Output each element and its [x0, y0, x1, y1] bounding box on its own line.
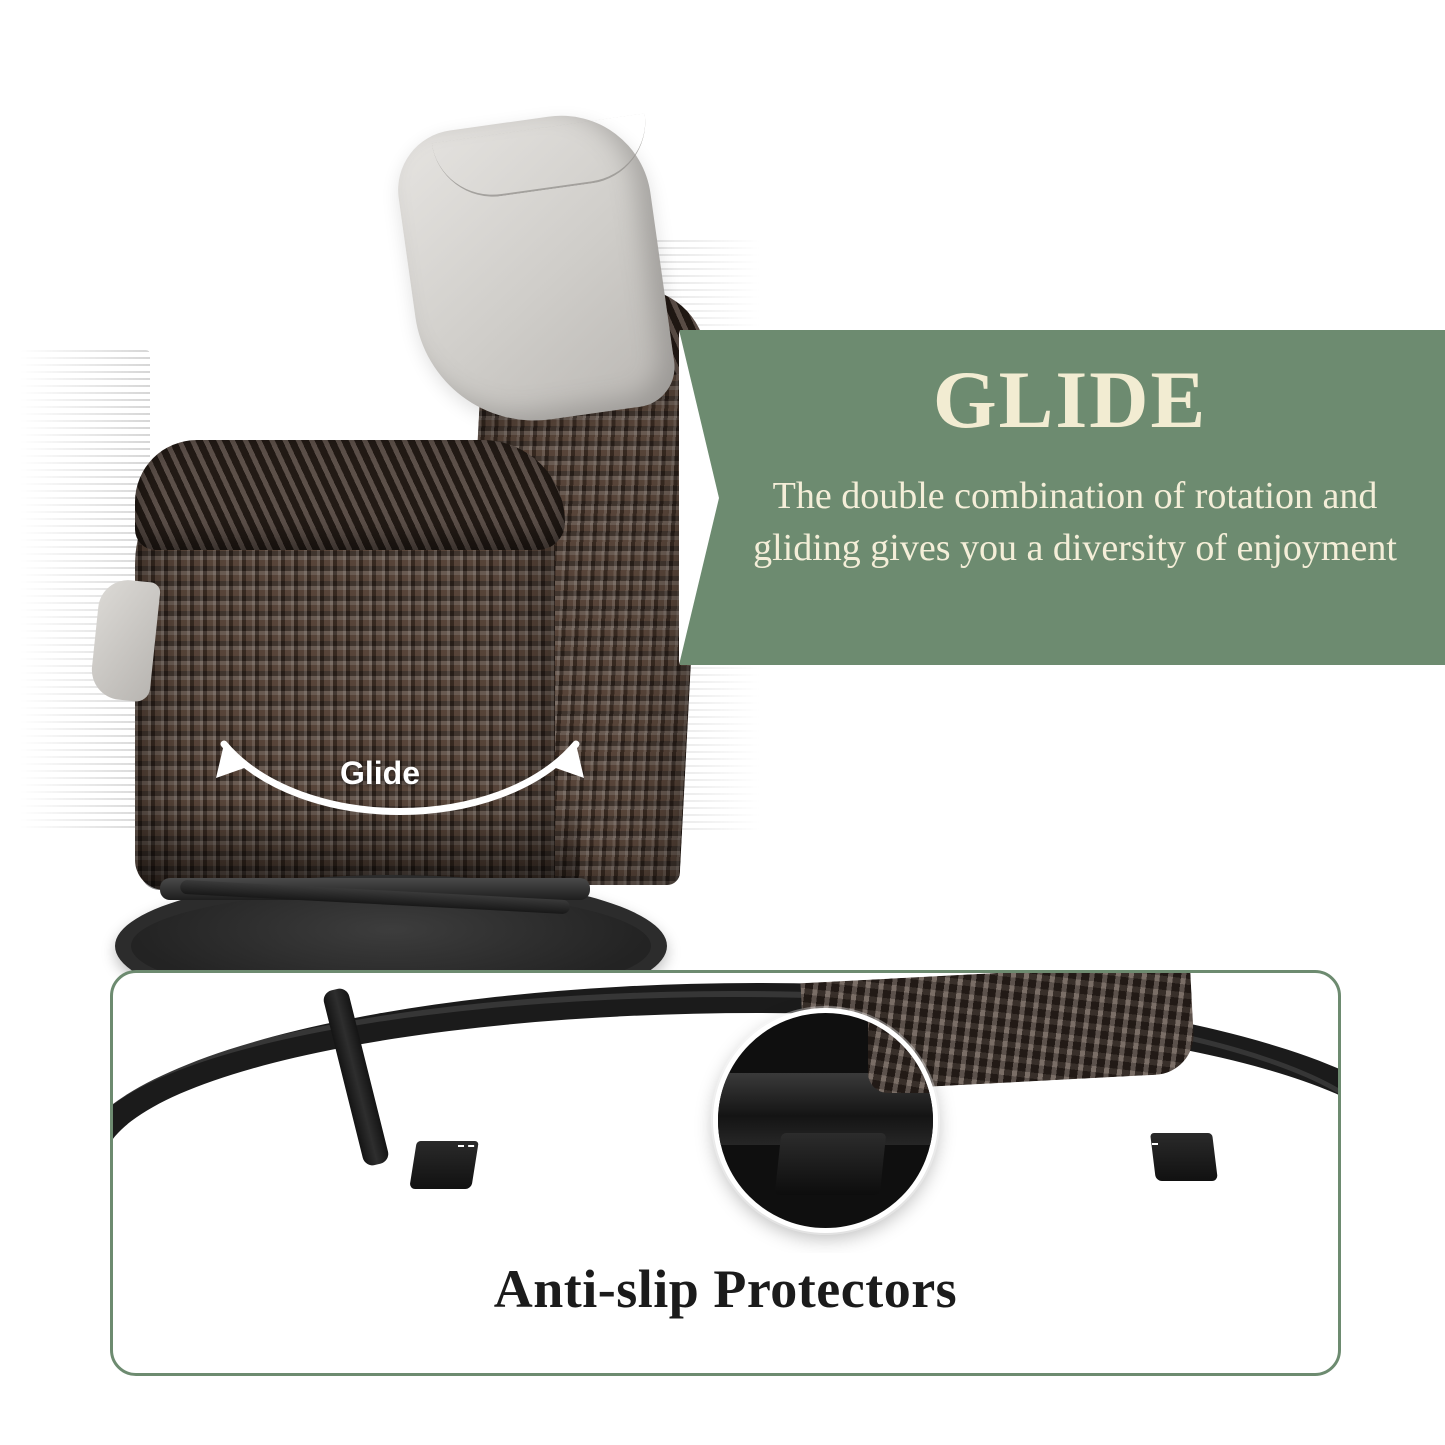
- magnified-anti-slip-foot: [775, 1133, 887, 1195]
- chair-arm-top-weave: [135, 440, 565, 550]
- product-image-glider-chair: Glide: [40, 100, 720, 900]
- bottom-detail-card: Anti-slip Protectors: [110, 970, 1341, 1376]
- glide-arrow-label: Glide: [340, 755, 420, 792]
- bottom-caption: Anti-slip Protectors: [113, 1258, 1338, 1320]
- magnifier-callout-circle: [713, 1008, 938, 1233]
- magnified-wicker: [868, 1008, 938, 1093]
- top-feature-section: Glide GLIDE The double combination of ro…: [0, 0, 1445, 945]
- detail-image-base-closeup: [113, 973, 1338, 1253]
- anti-slip-foot-left: [409, 1141, 479, 1189]
- anti-slip-foot-right: [1150, 1133, 1218, 1181]
- banner-text-block: GLIDE The double combination of rotation…: [740, 330, 1440, 665]
- banner-title: GLIDE: [740, 355, 1400, 445]
- green-text-banner: GLIDE The double combination of rotation…: [680, 330, 1445, 665]
- banner-subtitle: The double combination of rotation and g…: [750, 470, 1400, 574]
